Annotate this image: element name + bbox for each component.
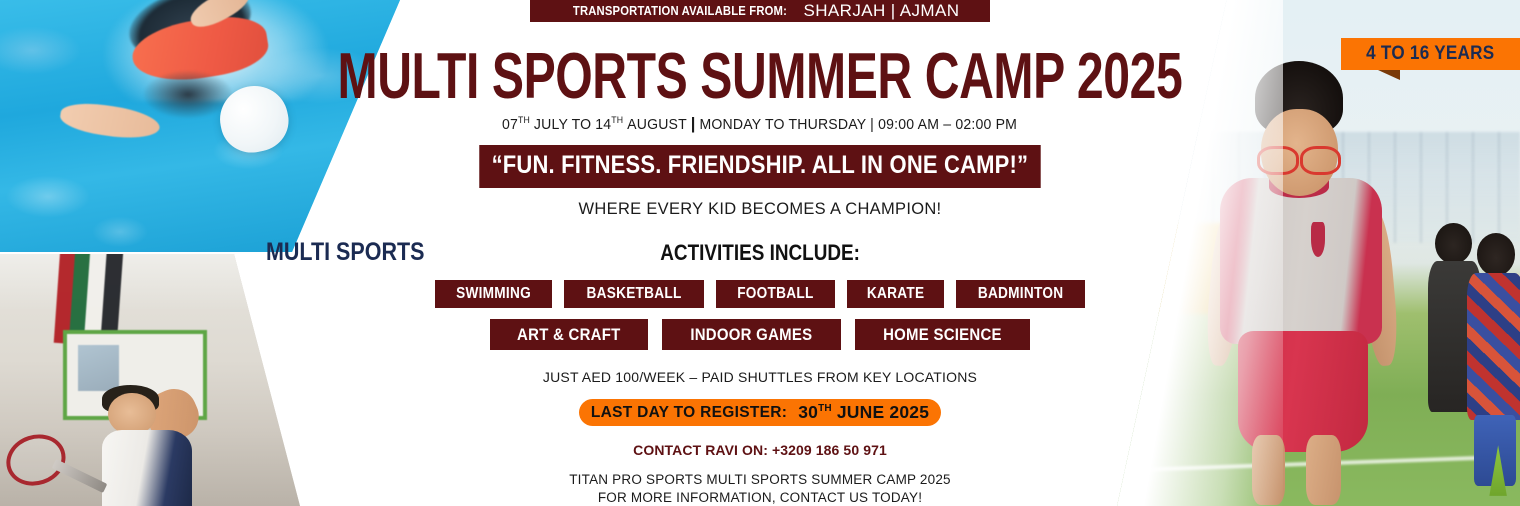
camp-dates-line: 07TH JULY TO 14TH AUGUST | MONDAY TO THU… [502, 114, 1017, 134]
transportation-label: TRANSPORTATION AVAILABLE FROM: [572, 4, 786, 18]
activity-pill-karate[interactable]: KARATE [847, 280, 944, 308]
date-to: 14TH [596, 115, 624, 133]
activity-pill-indoor-games[interactable]: INDOOR GAMES [662, 319, 841, 350]
activities-heading: ACTIVITIES INCLUDE: [660, 240, 860, 266]
register-date: 30TH JUNE 2025 [798, 402, 929, 423]
transportation-cities: SHARJAH | AJMAN [804, 1, 960, 21]
child-head [1477, 233, 1516, 276]
boy-right-leg [1306, 435, 1341, 505]
footer-line-2: FOR MORE INFORMATION, CONTACT US TODAY! [569, 489, 951, 506]
month-to: AUGUST [628, 117, 688, 133]
activity-pill-swimming[interactable]: SWIMMING [435, 280, 552, 308]
activity-pill-football[interactable]: FOOTBALL [716, 280, 835, 308]
activity-pill-badminton[interactable]: BADMINTON [956, 280, 1085, 308]
register-label: LAST DAY TO REGISTER: [591, 404, 787, 422]
footer-text: TITAN PRO SPORTS MULTI SPORTS SUMMER CAM… [569, 471, 951, 506]
subtagline: WHERE EVERY KID BECOMES A CHAMPION! [579, 200, 942, 219]
date-from: 07TH [502, 115, 530, 133]
footer-line-1: TITAN PRO SPORTS MULTI SPORTS SUMMER CAM… [569, 471, 951, 488]
swimming-photo [0, 0, 400, 252]
badminton-photo [0, 254, 300, 506]
age-range-badge: 4 TO 16 YEARS [1341, 38, 1520, 70]
activity-pill-art-and-craft[interactable]: ART & CRAFT [490, 319, 648, 350]
player-body [102, 430, 192, 506]
date-separator: | [691, 114, 696, 134]
player-head [108, 393, 156, 436]
activities-row-2: ART & CRAFT INDOOR GAMES HOME SCIENCE [490, 319, 1029, 350]
activity-label: SWIMMING [456, 285, 531, 303]
register-deadline-button[interactable]: LAST DAY TO REGISTER: 30TH JUNE 2025 [579, 399, 941, 426]
contact-line[interactable]: CONTACT RAVI ON: +3209 186 50 971 [633, 442, 887, 458]
price-line: JUST AED 100/WEEK – PAID SHUTTLES FROM K… [543, 369, 977, 385]
child-body [1467, 273, 1520, 420]
activity-label: FOOTBALL [737, 285, 813, 303]
activity-label: BADMINTON [978, 285, 1063, 303]
activity-pill-home-science[interactable]: HOME SCIENCE [855, 319, 1030, 350]
activities-row-1: SWIMMING BASKETBALL FOOTBALL KARATE BADM… [435, 280, 1085, 308]
age-range-label: 4 TO 16 YEARS [1367, 43, 1495, 65]
camp-schedule: MONDAY TO THURSDAY | 09:00 AM – 02:00 PM [700, 117, 1018, 133]
month-from: JULY TO [534, 117, 591, 133]
multi-sports-label: MULTI SPORTS [266, 238, 424, 267]
swimmer-hair-lower [144, 71, 232, 119]
gym-ceiling [0, 254, 300, 309]
activity-label: HOME SCIENCE [883, 325, 1002, 345]
transportation-banner: TRANSPORTATION AVAILABLE FROM: SHARJAH |… [530, 0, 990, 22]
tagline-banner: “FUN. FITNESS. FRIENDSHIP. ALL IN ONE CA… [479, 145, 1040, 188]
page-title: MULTI SPORTS SUMMER CAMP 2025 [338, 44, 1183, 109]
activity-label: INDOOR GAMES [690, 325, 812, 345]
activity-label: ART & CRAFT [517, 325, 620, 345]
activity-pill-basketball[interactable]: BASKETBALL [564, 280, 704, 308]
background-child-2 [1467, 233, 1520, 486]
activity-label: BASKETBALL [586, 285, 681, 303]
promotional-banner: TRANSPORTATION AVAILABLE FROM: SHARJAH |… [0, 0, 1520, 506]
activity-label: KARATE [867, 285, 924, 303]
